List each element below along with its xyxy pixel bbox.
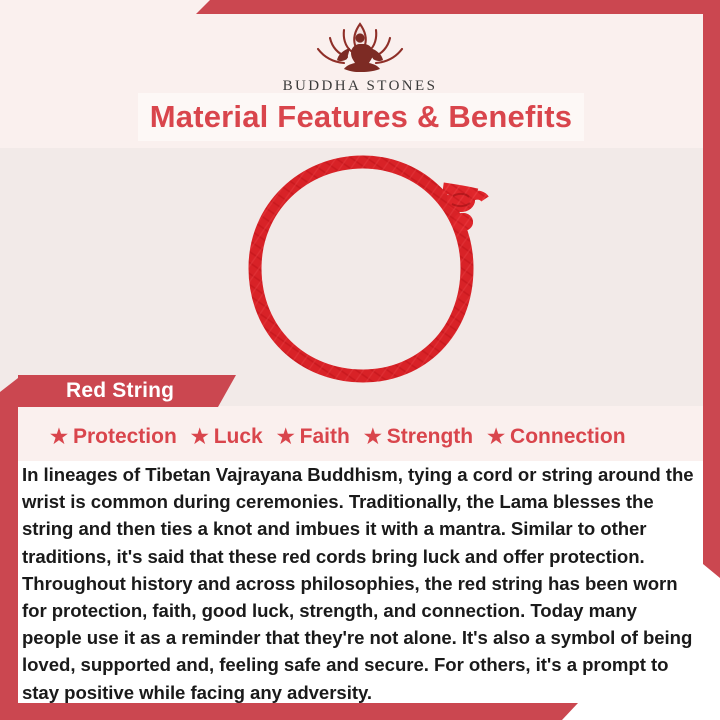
- decorative-bar-left: [0, 378, 18, 703]
- feature-label: Luck: [214, 425, 263, 449]
- description-paragraph: In lineages of Tibetan Vajrayana Buddhis…: [22, 461, 694, 706]
- feature-item-faith: ★ Faith: [277, 425, 350, 449]
- infographic-poster: BUDDHA STONES Material Features & Benefi…: [0, 0, 720, 720]
- feature-label: Connection: [510, 425, 626, 449]
- page-title: Material Features & Benefits: [150, 99, 573, 135]
- feature-label: Strength: [387, 425, 473, 449]
- feature-item-luck: ★ Luck: [191, 425, 263, 449]
- star-icon: ★: [50, 427, 68, 447]
- feature-list: ★ Protection ★ Luck ★ Faith ★ Strength ★…: [50, 420, 690, 454]
- product-label-banner: Red String: [18, 375, 236, 407]
- title-banner: Material Features & Benefits: [138, 93, 584, 141]
- decorative-bar-right: [703, 12, 720, 578]
- lotus-meditation-icon: [300, 18, 420, 76]
- feature-item-strength: ★ Strength: [364, 425, 473, 449]
- star-icon: ★: [277, 427, 295, 447]
- red-string-bracelet-image: [225, 152, 505, 392]
- feature-item-connection: ★ Connection: [487, 425, 625, 449]
- brand-logo: BUDDHA STONES: [0, 18, 720, 95]
- star-icon: ★: [487, 427, 505, 447]
- feature-item-protection: ★ Protection: [50, 425, 177, 449]
- product-label: Red String: [66, 379, 174, 403]
- decorative-bar-top: [196, 0, 720, 14]
- star-icon: ★: [191, 427, 209, 447]
- star-icon: ★: [364, 427, 382, 447]
- feature-label: Faith: [300, 425, 350, 449]
- feature-label: Protection: [73, 425, 177, 449]
